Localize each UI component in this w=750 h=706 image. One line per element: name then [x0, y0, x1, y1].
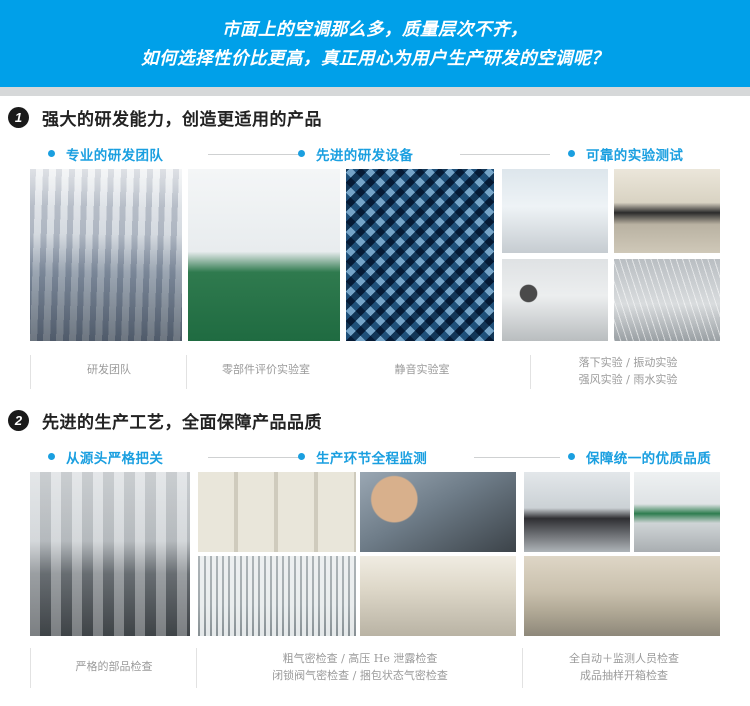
caption-divider [530, 355, 531, 389]
banner-line-2: 如何选择性价比更高，真正用心为用户生产研发的空调呢？ [141, 47, 609, 70]
bullet-dot-icon [568, 150, 575, 157]
photo-rd-office[interactable] [30, 169, 182, 341]
caption-final-inspection: 全自动＋监测人员检查 成品抽样开箱检查 [528, 650, 720, 684]
section-production-process: 2 先进的生产工艺，全面保障产品品质 从源头严格把关 生产环节全程监测 保障统一… [0, 399, 750, 690]
subhead-label: 生产环节全程监测 [316, 447, 427, 467]
section-2-caption-row: 严格的部品检查 粗气密检查 / 高压 He 泄露检查 闭锁阀气密检查 / 捆包状… [30, 646, 720, 690]
bullet-dot-icon [298, 150, 305, 157]
section-1-photo-grid [30, 169, 720, 341]
photo-packing-check[interactable] [360, 556, 516, 636]
caption-line: 粗气密检查 / 高压 He 泄露检查 [202, 650, 518, 667]
caption-parts-inspection: 严格的部品检查 [34, 658, 194, 675]
subhead-unified-quality[interactable]: 保障统一的优质品质 [568, 441, 711, 472]
section-1-title: 强大的研发能力，创造更适用的产品 [42, 105, 322, 130]
section-2-number-badge: 2 [8, 410, 29, 431]
subhead-label: 先进的研发设备 [316, 144, 413, 164]
caption-line: 静音实验室 [348, 361, 496, 378]
caption-divider [522, 648, 523, 688]
section-1-subhead-row: 专业的研发团队 先进的研发设备 可靠的实验测试 [30, 138, 720, 169]
subhead-label: 可靠的实验测试 [586, 144, 683, 164]
banner-line-1: 市面上的空调那么多，质量层次不齐， [222, 18, 528, 41]
caption-line: 研发团队 [34, 361, 184, 378]
section-2-photo-grid [30, 472, 720, 636]
subhead-source-control[interactable]: 从源头严格把关 [48, 441, 163, 472]
caption-airtight-inspection: 粗气密检查 / 高压 He 泄露检查 闭锁阀气密检查 / 捆包状态气密检查 [202, 650, 518, 684]
photo-assembly-line[interactable] [198, 472, 356, 552]
caption-line: 严格的部品检查 [34, 658, 194, 675]
bullet-dot-icon [568, 453, 575, 460]
subhead-divider-rule [474, 457, 560, 458]
photo-welding-closeup[interactable] [360, 472, 516, 552]
caption-line: 强风实验 / 雨水实验 [536, 371, 720, 388]
caption-line: 全自动＋监测人员检查 [528, 650, 720, 667]
caption-parts-lab: 零部件评价实验室 [190, 361, 342, 378]
caption-divider [30, 355, 31, 389]
photo-test-bench[interactable] [524, 472, 630, 552]
caption-divider [186, 355, 187, 389]
photo-rain-test[interactable] [614, 259, 720, 341]
bullet-dot-icon [298, 453, 305, 460]
section-rd-capability: 1 强大的研发能力，创造更适用的产品 专业的研发团队 先进的研发设备 可靠的实验… [0, 96, 750, 393]
photo-wind-test[interactable] [502, 259, 608, 341]
section-2-subhead-row: 从源头严格把关 生产环节全程监测 保障统一的优质品质 [30, 441, 720, 472]
subhead-reliability-test[interactable]: 可靠的实验测试 [568, 138, 683, 169]
photo-open-box-inspection[interactable] [524, 556, 720, 636]
subhead-label: 保障统一的优质品质 [586, 447, 711, 467]
caption-line: 闭锁阀气密检查 / 捆包状态气密检查 [202, 667, 518, 684]
subhead-label: 专业的研发团队 [66, 144, 163, 164]
caption-line: 落下实验 / 振动实验 [536, 354, 720, 371]
caption-line: 零部件评价实验室 [190, 361, 342, 378]
photo-drop-test[interactable] [502, 169, 608, 253]
caption-line: 成品抽样开箱检查 [528, 667, 720, 684]
subhead-label: 从源头严格把关 [66, 447, 163, 467]
caption-rd-team: 研发团队 [34, 361, 184, 378]
bullet-dot-icon [48, 150, 55, 157]
section-2-title: 先进的生产工艺，全面保障产品品质 [42, 408, 322, 433]
subhead-divider-rule [460, 154, 550, 155]
section-1-header: 1 强大的研发能力，创造更适用的产品 [0, 96, 750, 138]
photo-outdoor-unit-check[interactable] [198, 556, 356, 636]
section-1-caption-row: 研发团队 零部件评价实验室 静音实验室 落下实验 / 振动实验 强风实验 / 雨… [30, 353, 720, 393]
section-2-header: 2 先进的生产工艺，全面保障产品品质 [0, 399, 750, 441]
photo-warehouse-intake[interactable] [30, 472, 190, 636]
photo-vibration-test[interactable] [614, 169, 720, 253]
caption-reliability-tests: 落下实验 / 振动实验 强风实验 / 雨水实验 [536, 354, 720, 388]
subhead-process-monitoring[interactable]: 生产环节全程监测 [298, 441, 427, 472]
photo-monitor-room[interactable] [634, 472, 720, 552]
bullet-dot-icon [48, 453, 55, 460]
subhead-rd-team[interactable]: 专业的研发团队 [48, 138, 163, 169]
subhead-rd-equipment[interactable]: 先进的研发设备 [298, 138, 413, 169]
caption-divider [30, 648, 31, 688]
photo-anechoic-room[interactable] [346, 169, 494, 341]
section-1-number-badge: 1 [8, 107, 29, 128]
hero-banner: 市面上的空调那么多，质量层次不齐， 如何选择性价比更高，真正用心为用户生产研发的… [0, 0, 750, 87]
subhead-divider-rule [208, 457, 302, 458]
banner-shadow-bar [0, 87, 750, 96]
caption-divider [196, 648, 197, 688]
caption-anechoic-room: 静音实验室 [348, 361, 496, 378]
subhead-divider-rule [208, 154, 302, 155]
photo-parts-lab[interactable] [188, 169, 340, 341]
